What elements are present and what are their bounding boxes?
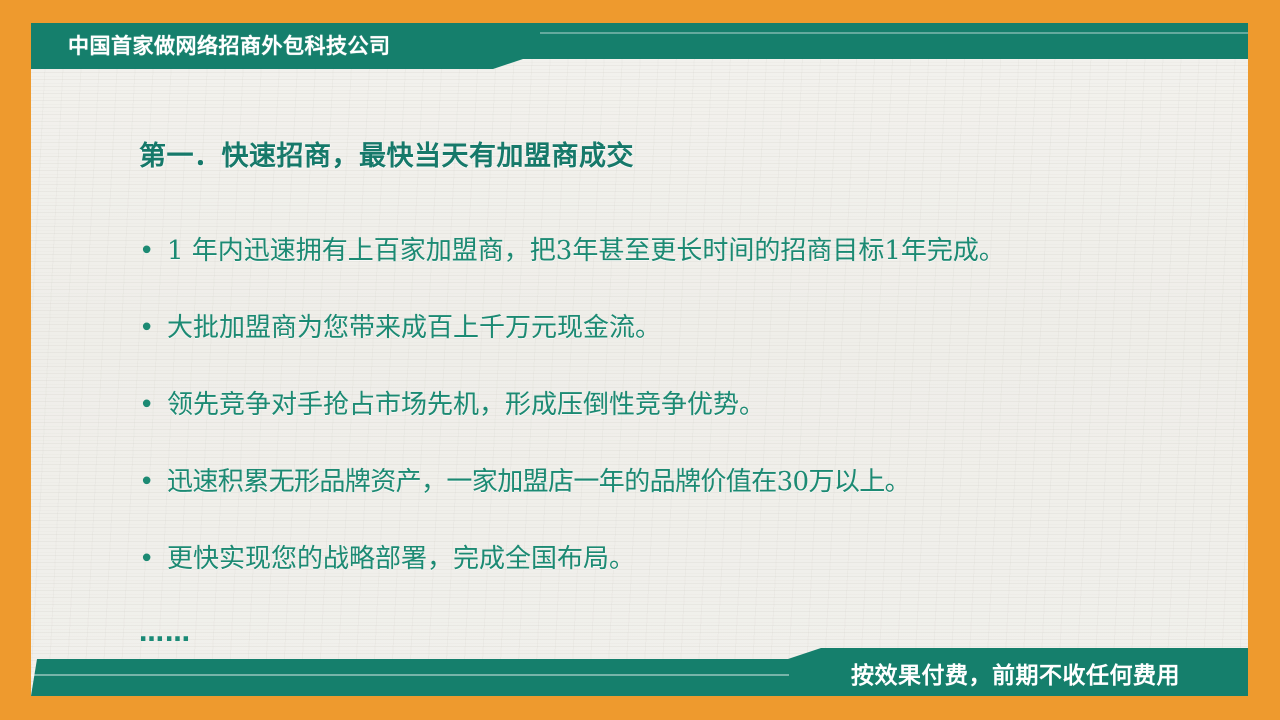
bullet-marker-icon: • [139,540,167,578]
list-item-text: 1 年内迅速拥有上百家加盟商，把3年甚至更长时间的招商目标1年完成。 [167,232,1209,270]
slide-root: 中国首家做网络招商外包科技公司 第一．快速招商，最快当天有加盟商成交 • 1 年… [0,0,1280,720]
bullet-marker-icon: • [139,386,167,424]
bullet-marker-icon: • [139,309,167,347]
list-item: • 大批加盟商为您带来成百上千万元现金流。 [139,309,1209,386]
bullet-list: • 1 年内迅速拥有上百家加盟商，把3年甚至更长时间的招商目标1年完成。 • 大… [139,232,1209,617]
list-item-text: 大批加盟商为您带来成百上千万元现金流。 [167,309,1209,347]
list-item: • 迅速积累无形品牌资产，一家加盟店一年的品牌价值在30万以上。 [139,463,1209,540]
list-item: • 领先竞争对手抢占市场先机，形成压倒性竞争优势。 [139,386,1209,463]
frame-edge-right [1248,0,1280,720]
list-item: • 1 年内迅速拥有上百家加盟商，把3年甚至更长时间的招商目标1年完成。 [139,232,1209,309]
trailing-ellipsis: …… [139,618,191,648]
bullet-marker-icon: • [139,232,167,270]
list-item: • 更快实现您的战略部署，完成全国布局。 [139,540,1209,617]
frame-edge-top [0,0,1280,23]
bullet-marker-icon: • [139,463,167,501]
header-band: 中国首家做网络招商外包科技公司 [31,23,1248,69]
footer-accent-line [31,674,789,676]
header-accent-line [540,32,1250,34]
frame-edge-bottom [0,696,1280,720]
header-title: 中国首家做网络招商外包科技公司 [68,30,391,60]
list-item-text: 更快实现您的战略部署，完成全国布局。 [167,540,1209,578]
frame-edge-left [0,0,31,720]
footer-band: 按效果付费，前期不收任何费用 [31,648,1248,696]
list-item-text: 迅速积累无形品牌资产，一家加盟店一年的品牌价值在30万以上。 [167,463,1209,501]
slide-headline: 第一．快速招商，最快当天有加盟商成交 [139,134,634,173]
footer-tagline: 按效果付费，前期不收任何费用 [851,656,1180,690]
list-item-text: 领先竞争对手抢占市场先机，形成压倒性竞争优势。 [167,386,1209,424]
